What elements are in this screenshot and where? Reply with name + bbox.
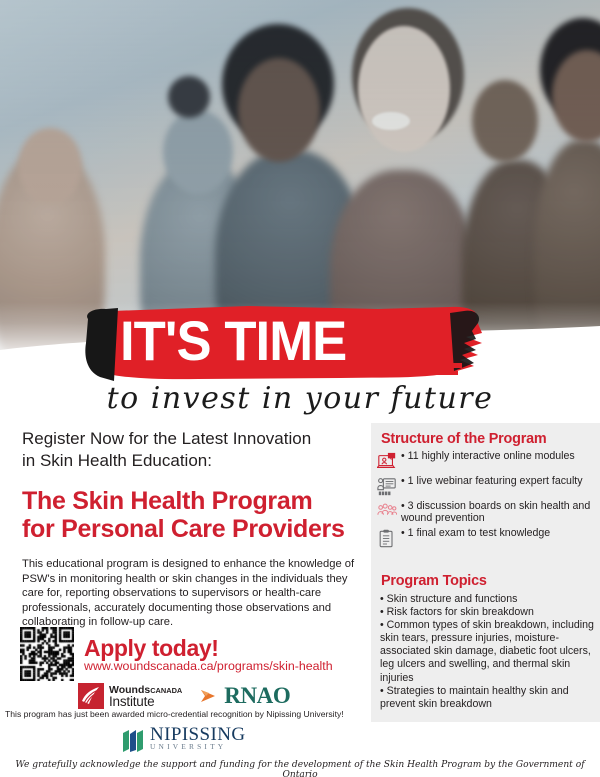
subheadline: to invest in your future: [0, 381, 600, 416]
funding-acknowledgement: We gratefully acknowledge the support an…: [0, 760, 600, 777]
program-title: The Skin Health Program for Personal Car…: [22, 487, 362, 543]
structure-item-label: • 1 final exam to test knowledge: [401, 527, 550, 539]
final-exam-icon: [377, 528, 397, 550]
program-title-line-2: for Personal Care Providers: [22, 515, 362, 543]
nipissing-university-logo: NIPISSING UNIVERSITY: [122, 728, 245, 753]
topic-item: • Strategies to maintain healthy skin an…: [380, 685, 596, 711]
program-info-panel: Structure of the Program • 11 highly int…: [371, 423, 600, 722]
apply-url-link[interactable]: www.woundscanada.ca/programs/skin-health: [84, 659, 333, 674]
program-title-line-1: The Skin Health Program: [22, 487, 362, 515]
partner-logo-row: WoundsCANADA Institute RNAO: [78, 683, 290, 709]
nipissing-wordmark: NIPISSING UNIVERSITY: [150, 728, 245, 753]
structure-list: • 11 highly interactive online modules: [377, 450, 597, 552]
wounds-canada-institute-logo: WoundsCANADA Institute: [78, 683, 182, 709]
kicker-line-1: Register Now for the Latest Innovation: [22, 428, 362, 450]
topics-list: • Skin structure and functions • Risk fa…: [380, 593, 596, 711]
rnao-wordmark: RNAO: [224, 683, 290, 709]
apply-block: Apply today! www.woundscanada.ca/program…: [84, 636, 333, 674]
poster: IT'S TIME to invest in your future Regis…: [0, 0, 600, 777]
wounds-canada-line-2: Institute: [109, 696, 182, 707]
micro-credential-note: This program has just been awarded micro…: [5, 709, 370, 720]
structure-item-modules: • 11 highly interactive online modules: [377, 450, 597, 473]
structure-item-exam: • 1 final exam to test knowledge: [377, 527, 597, 550]
topics-heading: Program Topics: [381, 573, 487, 589]
discussion-boards-icon: [377, 501, 397, 523]
headline: IT'S TIME: [120, 313, 458, 369]
wounds-canada-wordmark: WoundsCANADA Institute: [109, 685, 182, 707]
topic-item: • Common types of skin breakdown, includ…: [380, 619, 596, 684]
structure-item-label: • 1 live webinar featuring expert facult…: [401, 475, 583, 487]
wounds-canada-mark-icon: [78, 683, 104, 709]
structure-item-webinar: • 1 live webinar featuring expert facult…: [377, 475, 597, 498]
apply-today-label: Apply today!: [84, 636, 333, 660]
topic-item: • Risk factors for skin breakdown: [380, 606, 596, 619]
structure-item-discussion: • 3 discussion boards on skin health and…: [377, 500, 597, 525]
rnao-arrow-icon: [200, 687, 222, 705]
rnao-logo: RNAO: [200, 683, 290, 709]
online-modules-icon: [377, 451, 397, 473]
live-webinar-icon: [377, 476, 397, 498]
nipissing-mark-icon: [122, 729, 144, 753]
topic-item: • Skin structure and functions: [380, 593, 596, 606]
kicker-line-2: in Skin Health Education:: [22, 450, 362, 472]
structure-item-label: • 3 discussion boards on skin health and…: [401, 500, 597, 525]
qr-code[interactable]: [20, 627, 74, 681]
left-column: Register Now for the Latest Innovation i…: [22, 428, 362, 630]
structure-heading: Structure of the Program: [381, 431, 547, 447]
program-description: This educational program is designed to …: [22, 557, 362, 630]
structure-item-label: • 11 highly interactive online modules: [401, 450, 575, 462]
kicker: Register Now for the Latest Innovation i…: [22, 428, 362, 472]
